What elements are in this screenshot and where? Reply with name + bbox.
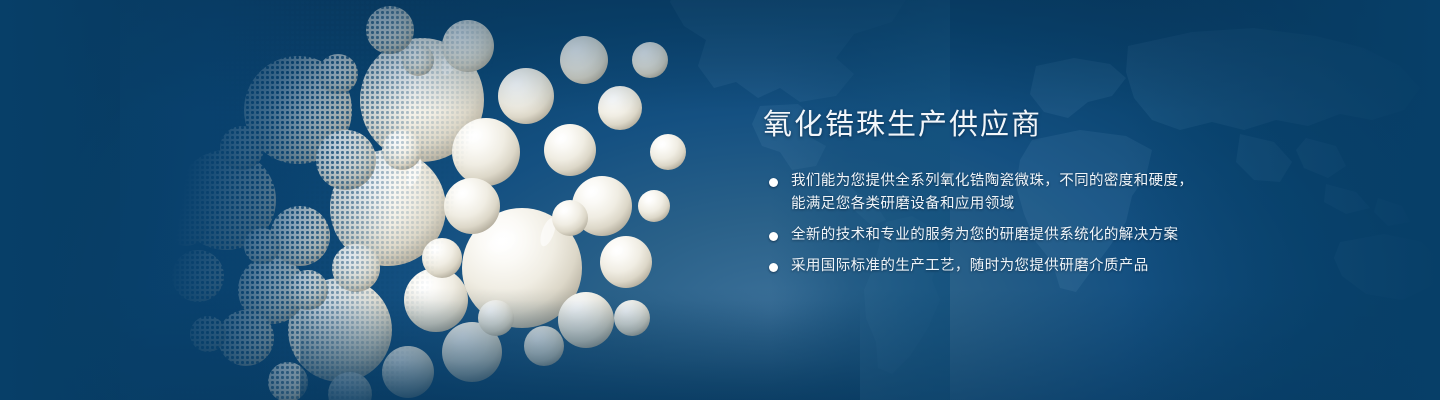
banner-text-block: 氧化锆珠生产供应商 我们能为您提供全系列氧化锆陶瓷微珠，不同的密度和硬度， 能满…: [763, 104, 1283, 278]
bullet-dot-icon: [769, 232, 778, 241]
list-item-line-1: 全新的技术和专业的服务为您的研磨提供系统化的解决方案: [791, 224, 1283, 247]
feature-list: 我们能为您提供全系列氧化锆陶瓷微珠，不同的密度和硬度， 能满足您各类研磨设备和应…: [763, 170, 1283, 278]
list-item-line-1: 采用国际标准的生产工艺，随时为您提供研磨介质产品: [791, 255, 1283, 278]
page-title: 氧化锆珠生产供应商: [763, 104, 1283, 144]
bullet-dot-icon: [769, 178, 778, 187]
list-item: 采用国际标准的生产工艺，随时为您提供研磨介质产品: [763, 255, 1283, 278]
hero-banner: 氧化锆珠生产供应商 我们能为您提供全系列氧化锆陶瓷微珠，不同的密度和硬度， 能满…: [0, 0, 1440, 400]
list-item-line-1: 我们能为您提供全系列氧化锆陶瓷微珠，不同的密度和硬度，: [791, 170, 1283, 193]
list-item: 全新的技术和专业的服务为您的研磨提供系统化的解决方案: [763, 224, 1283, 247]
list-item-line-2: 能满足您各类研磨设备和应用领域: [791, 193, 1283, 216]
bullet-dot-icon: [769, 263, 778, 272]
list-item: 我们能为您提供全系列氧化锆陶瓷微珠，不同的密度和硬度， 能满足您各类研磨设备和应…: [763, 170, 1283, 216]
